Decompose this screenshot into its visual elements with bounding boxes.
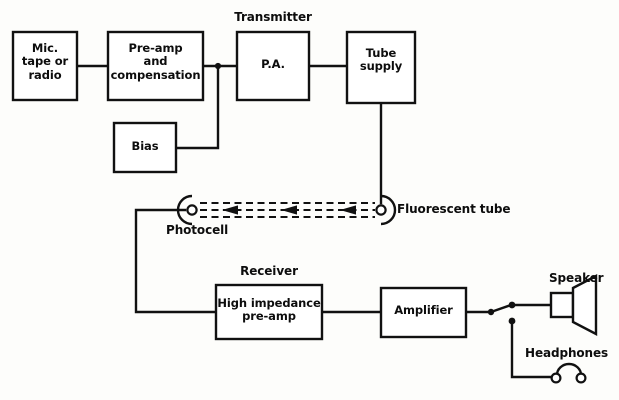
- block-label-pa: P.A.: [237, 58, 309, 71]
- switch-blade[interactable]: [491, 305, 511, 312]
- block-label-amplifier: Amplifier: [381, 304, 466, 317]
- light-beam-arrow-2: [281, 205, 297, 214]
- headphone-jack-arc: [557, 364, 581, 375]
- speaker-body: [551, 293, 573, 317]
- section-label-transmitter: Transmitter: [217, 11, 329, 25]
- block-diagram-canvas: Mic. tape or radio Pre-amp and compensat…: [0, 0, 619, 400]
- component-label-photocell: Photocell: [166, 224, 228, 238]
- section-label-receiver: Receiver: [219, 265, 319, 279]
- block-label-tubesupply: Tube supply: [347, 47, 415, 74]
- block-label-hipreamp: High impedance pre-amp: [216, 297, 322, 324]
- component-label-speaker: Speaker: [549, 272, 603, 286]
- junction-dot-bias: [215, 63, 221, 69]
- headphone-jack-terminal-left: [552, 374, 561, 383]
- component-label-headphones: Headphones: [525, 347, 608, 361]
- block-label-preamp: Pre-amp and compensation: [108, 42, 203, 82]
- light-beam-arrow-1: [222, 205, 238, 214]
- block-label-source: Mic. tape or radio: [13, 42, 77, 82]
- block-label-bias: Bias: [114, 140, 176, 153]
- photocell-terminal: [187, 205, 196, 214]
- fluorescent-tube-terminal: [376, 205, 385, 214]
- diagram-vector-layer: [0, 0, 619, 400]
- light-beam-arrow-3: [340, 205, 356, 214]
- headphone-jack-terminal-right: [577, 374, 586, 383]
- component-label-fluorescent-tube: Fluorescent tube: [397, 203, 510, 217]
